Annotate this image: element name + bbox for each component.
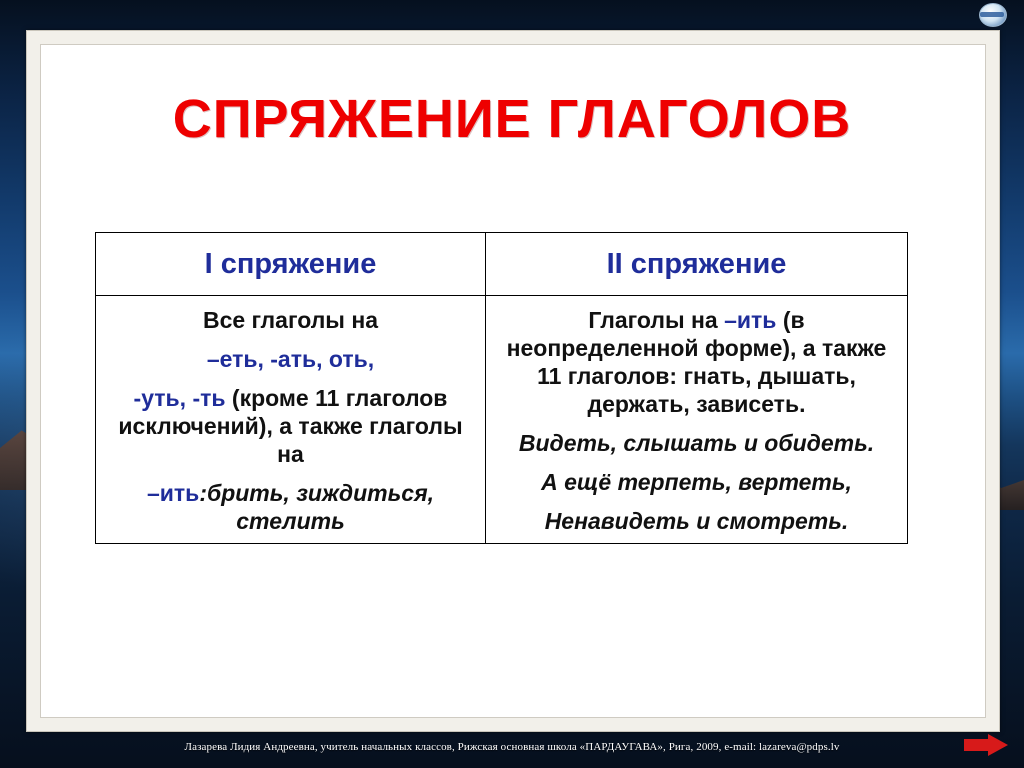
conjugation-table: I спряжение II спряжение Все глаголы на … <box>95 232 908 544</box>
c1-line4-rest: :брить, зиждиться, стелить <box>199 480 434 534</box>
c1-line3: -уть, -ть (кроме 11 глаголов исключений)… <box>110 384 471 468</box>
table-cell-conjugation-1: Все глаголы на –еть, -ать, оть, -уть, -т… <box>96 296 486 544</box>
c2-line4: Ненавидеть и смотреть. <box>500 507 893 535</box>
table-row: Все глаголы на –еть, -ать, оть, -уть, -т… <box>96 296 908 544</box>
c2-line1-a: Глаголы на <box>588 307 724 333</box>
author-credit: Лазарева Лидия Андреевна, учитель началь… <box>0 741 1024 753</box>
table-header-conjugation-1: I спряжение <box>96 233 486 296</box>
c1-line4: –ить:брить, зиждиться, стелить <box>110 479 471 535</box>
presentation-slide: СПРЯЖЕНИЕ ГЛАГОЛОВ I спряжение II спряже… <box>0 0 1024 768</box>
c1-line1: Все глаголы на <box>110 306 471 334</box>
table-header-row: I спряжение II спряжение <box>96 233 908 296</box>
c2-line1: Глаголы на –ить (в неопределенной форме)… <box>500 306 893 418</box>
c2-line2: Видеть, слышать и обидеть. <box>500 429 893 457</box>
c2-line3: А ещё терпеть, вертеть, <box>500 468 893 496</box>
c1-line2: –еть, -ать, оть, <box>110 345 471 373</box>
table-cell-conjugation-2: Глаголы на –ить (в неопределенной форме)… <box>486 296 908 544</box>
next-slide-arrow-icon[interactable] <box>964 734 1008 756</box>
table-header-conjugation-2: II спряжение <box>486 233 908 296</box>
page-title: СПРЯЖЕНИЕ ГЛАГОЛОВ <box>60 88 964 150</box>
c1-line4-blue: –ить <box>147 480 199 506</box>
c1-line3-blue: -уть, -ть <box>134 385 226 411</box>
c2-line1-blue: –ить <box>724 307 776 333</box>
presentation-logo-icon <box>976 2 1010 26</box>
